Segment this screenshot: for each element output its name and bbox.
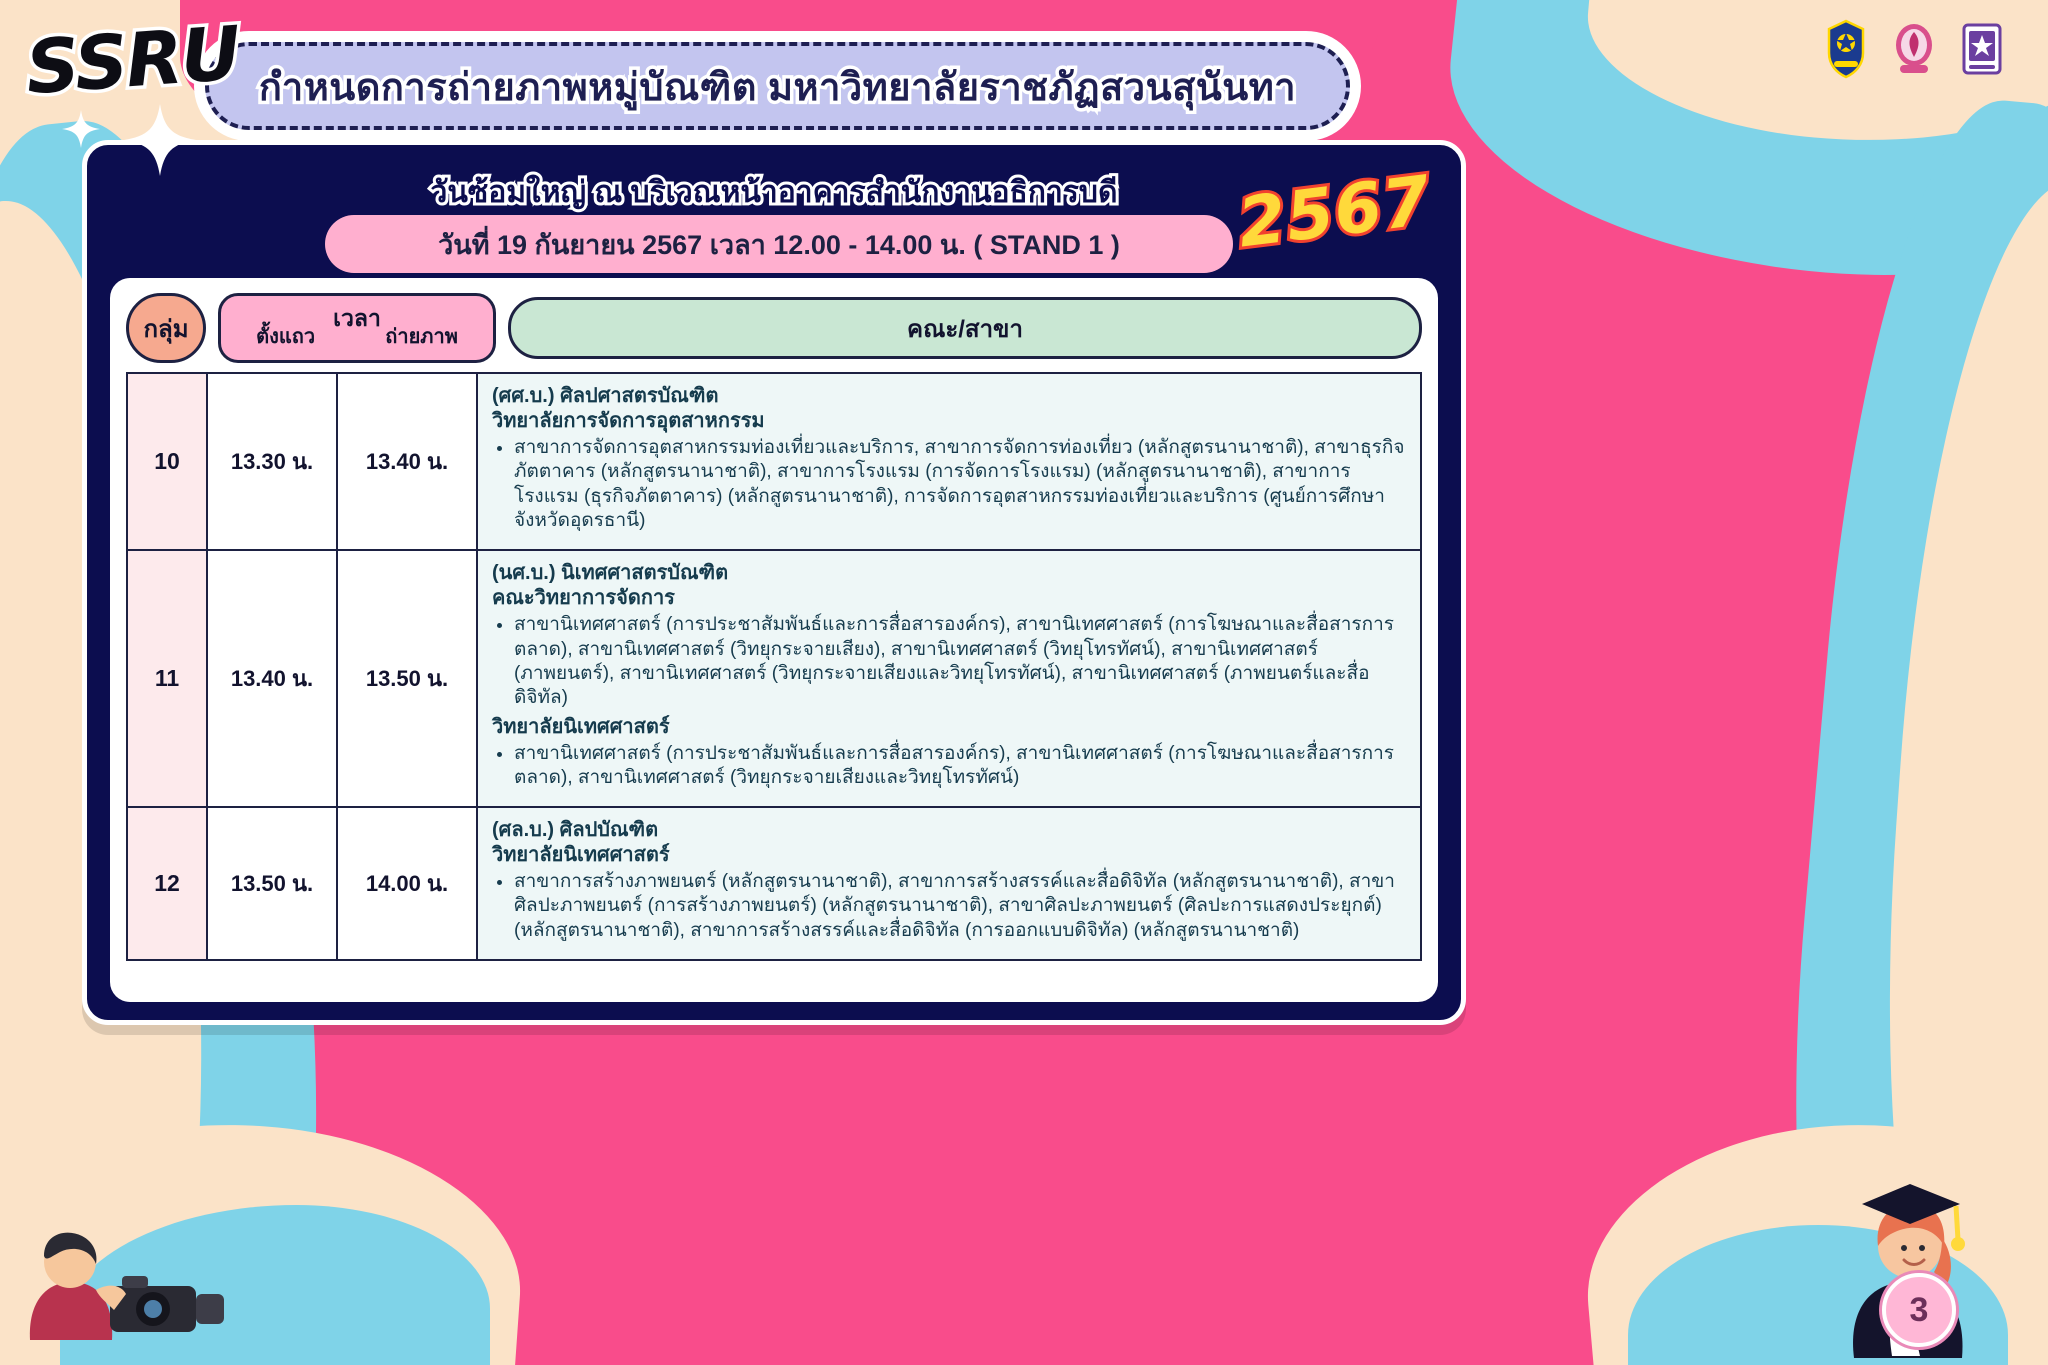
faculty-school: วิทยาลัยนิเทศศาสตร์ <box>492 843 1406 868</box>
header-time-lineup: ตั้งแถว <box>256 320 315 352</box>
faculty-program-list: สาขาการจัดการอุตสาหกรรมท่องเที่ยวและบริก… <box>514 436 1406 533</box>
faculty-program-list-secondary: สาขานิเทศศาสตร์ (การประชาสัมพันธ์และการส… <box>514 742 1406 791</box>
header-time-photo: ถ่ายภาพ <box>385 320 458 352</box>
logo-row <box>1822 18 2006 80</box>
cell-lineup-time: 13.30 น. <box>207 373 337 550</box>
cell-faculty: (ศล.บ.) ศิลปบัณฑิต วิทยาลัยนิเทศศาสตร์ ส… <box>477 807 1421 960</box>
table-row: 11 13.40 น. 13.50 น. (นศ.บ.) นิเทศศาสตรบ… <box>127 550 1421 807</box>
faculty-school-secondary: วิทยาลัยนิเทศศาสตร์ <box>492 715 1406 740</box>
cell-lineup-time: 13.50 น. <box>207 807 337 960</box>
date-pill: วันที่ 19 กันยายน 2567 เวลา 12.00 - 14.0… <box>325 215 1233 273</box>
page-number-badge: 3 <box>1882 1273 1956 1347</box>
thai-emblem-logo-icon <box>1890 18 1938 80</box>
photographer-illustration-icon <box>10 1190 240 1355</box>
cell-group: 12 <box>127 807 207 960</box>
header-time: เวลา ตั้งแถว ถ่ายภาพ <box>218 293 496 363</box>
list-item: สาขานิเทศศาสตร์ (การประชาสัมพันธ์และการส… <box>514 742 1406 791</box>
ssru-wordmark: SSRU <box>23 11 242 112</box>
faculty-school: วิทยาลัยการจัดการอุตสาหกรรม <box>492 409 1406 434</box>
date-text: วันที่ 19 กันยายน 2567 เวลา 12.00 - 14.0… <box>438 223 1120 266</box>
cell-faculty: (ศศ.บ.) ศิลปศาสตรบัณฑิต วิทยาลัยการจัดกา… <box>477 373 1421 550</box>
faculty-degree: (ศศ.บ.) ศิลปศาสตรบัณฑิต <box>492 384 1406 409</box>
cell-lineup-time: 13.40 น. <box>207 550 337 807</box>
schedule-table: 10 13.30 น. 13.40 น. (ศศ.บ.) ศิลปศาสตรบั… <box>126 372 1422 961</box>
cell-group: 11 <box>127 550 207 807</box>
schedule-card: วันซ้อมใหญ่ ณ บริเวณหน้าอาคารสำนักงานอธิ… <box>82 140 1466 1025</box>
page-title: กำหนดการถ่ายภาพหมู่บัณฑิต มหาวิทยาลัยราช… <box>259 56 1296 117</box>
header-group: กลุ่ม <box>126 293 206 363</box>
sparkle-icon-small <box>60 108 102 150</box>
faculty-program-list: สาขานิเทศศาสตร์ (การประชาสัมพันธ์และการส… <box>514 613 1406 710</box>
ssru-crest-logo-icon <box>1822 18 1870 80</box>
table-panel: กลุ่ม เวลา ตั้งแถว ถ่ายภาพ คณะ/สาขา 10 1… <box>110 278 1438 1002</box>
table-row: 12 13.50 น. 14.00 น. (ศล.บ.) ศิลปบัณฑิต … <box>127 807 1421 960</box>
cell-group: 10 <box>127 373 207 550</box>
faculty-degree: (ศล.บ.) ศิลปบัณฑิต <box>492 818 1406 843</box>
book-logo-icon <box>1958 18 2006 80</box>
list-item: สาขานิเทศศาสตร์ (การประชาสัมพันธ์และการส… <box>514 613 1406 710</box>
cell-faculty: (นศ.บ.) นิเทศศาสตรบัณฑิต คณะวิทยาการจัดก… <box>477 550 1421 807</box>
sparkle-icon-large <box>120 100 200 180</box>
header-faculty: คณะ/สาขา <box>508 297 1422 359</box>
cell-photo-time: 13.50 น. <box>337 550 477 807</box>
cell-photo-time: 14.00 น. <box>337 807 477 960</box>
faculty-program-list: สาขาการสร้างภาพยนตร์ (หลักสูตรนานาชาติ),… <box>514 870 1406 943</box>
table-header-row: กลุ่ม เวลา ตั้งแถว ถ่ายภาพ คณะ/สาขา <box>126 292 1422 364</box>
table-row: 10 13.30 น. 13.40 น. (ศศ.บ.) ศิลปศาสตรบั… <box>127 373 1421 550</box>
list-item: สาขาการจัดการอุตสาหกรรมท่องเที่ยวและบริก… <box>514 436 1406 533</box>
list-item: สาขาการสร้างภาพยนตร์ (หลักสูตรนานาชาติ),… <box>514 870 1406 943</box>
faculty-degree: (นศ.บ.) นิเทศศาสตรบัณฑิต <box>492 561 1406 586</box>
cell-photo-time: 13.40 น. <box>337 373 477 550</box>
faculty-school: คณะวิทยาการจัดการ <box>492 586 1406 611</box>
title-banner: กำหนดการถ่ายภาพหมู่บัณฑิต มหาวิทยาลัยราช… <box>205 42 1350 130</box>
